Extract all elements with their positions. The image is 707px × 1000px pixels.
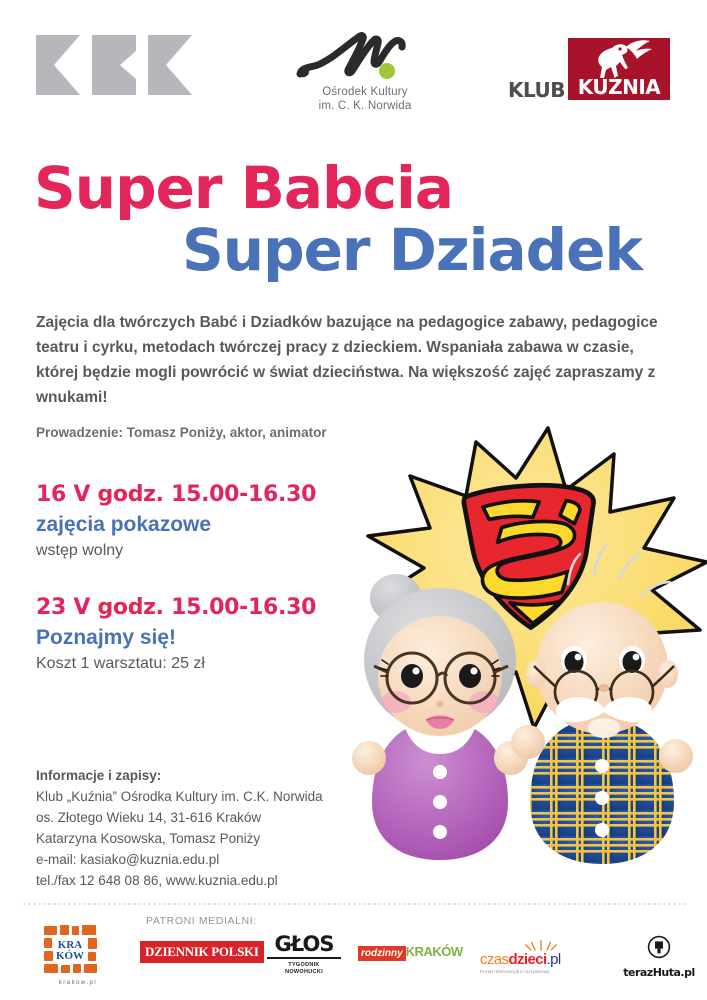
event-title: zajęcia pokazowe <box>36 510 366 539</box>
osrodek-kultury-logo: Ośrodek Kultury im. C. K. Norwida <box>290 30 440 130</box>
sun-icon <box>524 937 558 951</box>
grandpa-button <box>595 791 609 805</box>
events-list: 16 V godz. 15.00-16.30 zajęcia pokazowe … <box>36 480 366 702</box>
klub-kuznia-red-box: KUŹNIA <box>568 38 670 100</box>
rodzinny-logo-part-1: rodzinny <box>358 946 406 961</box>
event-title: Poznajmy się! <box>36 623 366 652</box>
glos-logo-main: GŁOS <box>262 933 346 955</box>
contact-line: os. Złotego Wieku 14, 31-616 Kraków <box>36 807 436 828</box>
green-dot-icon <box>379 63 395 79</box>
contact-block: Informacje i zapisy: Klub „Kuźnia” Ośrod… <box>36 765 436 891</box>
event-item: 16 V godz. 15.00-16.30 zajęcia pokazowe … <box>36 480 366 563</box>
contact-line: Klub „Kuźnia” Ośrodka Kultury im. C.K. N… <box>36 786 436 807</box>
terazhuta-logo-text: terazHuta.pl <box>616 966 702 979</box>
osrodek-kultury-brush-mark <box>290 30 440 85</box>
contact-phone-line: tel./fax 12 648 08 86, www.kuznia.edu.pl <box>36 870 436 891</box>
czasdzieci-logo-sub: Portal informacyjno-rozrywkowy <box>480 969 598 974</box>
event-date: 16 V godz. 15.00-16.30 <box>36 480 366 510</box>
contact-email-line: e-mail: kasiako@kuznia.edu.pl <box>36 849 436 870</box>
description-text: Zajęcia dla twórczych Babć i Dziadków ba… <box>36 310 676 410</box>
krakow-city-logo: KRA KÓW krakow.pl <box>42 924 114 992</box>
header-logos: Ośrodek Kultury im. C. K. Norwida KLUB K… <box>0 30 707 140</box>
event-note: wstęp wolny <box>36 539 366 563</box>
event-note: Koszt 1 warsztatu: 25 zł <box>36 652 366 676</box>
czasdzieci-logo: czasdzieci.pl Portal informacyjno-rozryw… <box>480 937 598 974</box>
klub-kuznia-logo: KLUB KUŹNIA <box>508 38 670 118</box>
rodzinny-krakow-logo: rodzinnyKRAKÓW <box>358 943 463 961</box>
krk-logo-mark <box>36 35 196 95</box>
event-date: 23 V godz. 15.00-16.30 <box>36 593 366 623</box>
contact-heading: Informacje i zapisy: <box>36 765 436 786</box>
glos-logo-rule <box>267 957 341 959</box>
czasdzieci-part-1: czas <box>480 951 508 968</box>
krk-logo <box>36 35 196 95</box>
footer-divider <box>22 903 686 905</box>
terazhuta-mark-icon <box>647 935 671 959</box>
media-partner-logos: DZIENNIK POLSKI GŁOS TYGODNIK NOWOHUCKI … <box>140 933 700 988</box>
event-item: 23 V godz. 15.00-16.30 Poznajmy się! Kos… <box>36 593 366 676</box>
grandpa-hand <box>511 725 545 759</box>
czasdzieci-part-3: .pl <box>547 951 561 968</box>
czasdzieci-logo-text: czasdzieci.pl <box>480 951 598 968</box>
grandpa-hand <box>659 739 693 773</box>
title-line-2: Super Dziadek <box>0 220 707 280</box>
grandpa-button <box>595 823 609 837</box>
poster-root: Ośrodek Kultury im. C. K. Norwida KLUB K… <box>0 0 707 1000</box>
glos-tygodnik-nowohucki-logo: GŁOS TYGODNIK NOWOHUCKI <box>262 933 346 976</box>
grandpa-button <box>595 759 609 773</box>
svg-text:KÓW: KÓW <box>56 950 84 962</box>
terazhuta-logo: terazHuta.pl <box>616 935 702 979</box>
klub-kuznia-word-kuznia: KUŹNIA <box>568 75 670 99</box>
page-title: Super Babcia Super Dziadek <box>0 158 707 280</box>
glos-logo-sub-2: NOWOHUCKI <box>262 969 346 976</box>
title-line-1: Super Babcia <box>0 158 707 218</box>
glos-logo-sub-1: TYGODNIK <box>262 962 346 969</box>
klub-kuznia-word-klub: KLUB <box>508 78 565 102</box>
osrodek-kultury-label-1: Ośrodek Kultury <box>290 85 440 99</box>
osrodek-kultury-label-2: im. C. K. Norwida <box>290 99 440 113</box>
krakow-logo-url: krakow.pl <box>42 980 114 986</box>
patroni-medialni-label: PATRONI MEDIALNI: <box>146 915 257 927</box>
rodzinny-logo-part-2: KRAKÓW <box>406 944 463 959</box>
dziennik-polski-logo: DZIENNIK POLSKI <box>140 941 264 963</box>
contact-line: Katarzyna Kosowska, Tomasz Poniży <box>36 828 436 849</box>
czasdzieci-part-2: dzieci <box>508 951 546 968</box>
